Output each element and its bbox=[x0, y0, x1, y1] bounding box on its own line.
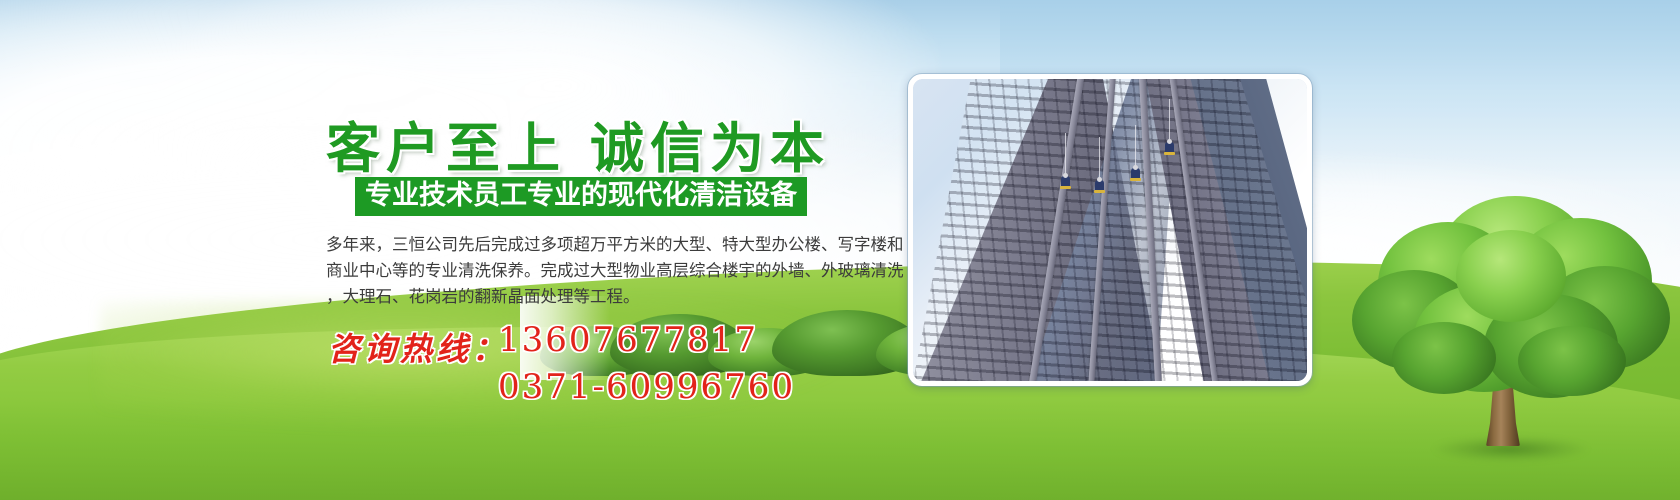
paragraph-line: 商业中心等的专业清洗保养。完成过大型物业高层综合楼宇的外墙、外玻璃清洗 bbox=[326, 258, 886, 284]
subtitle-bar: 专业技术员工专业的现代化清洁设备 bbox=[355, 177, 807, 216]
rope-access-worker bbox=[1061, 173, 1070, 188]
green-tree bbox=[1336, 196, 1676, 456]
photo-inner bbox=[913, 79, 1307, 381]
hotline-label: 咨询热线： bbox=[328, 324, 508, 370]
highrise-window-cleaning-photo[interactable] bbox=[908, 74, 1312, 386]
rope-access-worker bbox=[1095, 177, 1104, 192]
rope-access-worker bbox=[1165, 139, 1174, 154]
promo-banner: 客户至上诚信为本 专业技术员工专业的现代化清洁设备 多年来，三恒公司先后完成过多… bbox=[0, 0, 1680, 500]
phone-secondary[interactable]: 0371-60996760 bbox=[498, 367, 795, 407]
paragraph-line: 多年来，三恒公司先后完成过多项超万平方米的大型、特大型办公楼、写字楼和 bbox=[326, 232, 886, 258]
skyscraper bbox=[913, 79, 1307, 381]
paragraph-line: ，大理石、花岗岩的翻新晶面处理等工程。 bbox=[326, 284, 886, 310]
rope-access-worker bbox=[1131, 165, 1140, 180]
tree-canopy bbox=[1344, 196, 1668, 400]
subtitle-bar-label: 专业技术员工专业的现代化清洁设备 bbox=[365, 180, 797, 211]
page-title: 客户至上诚信为本 bbox=[326, 104, 830, 183]
headline-part-1: 客户至上 bbox=[326, 116, 566, 180]
headline-part-2: 诚信为本 bbox=[590, 116, 830, 180]
phone-primary[interactable]: 13607677817 bbox=[498, 320, 758, 360]
description-paragraph: 多年来，三恒公司先后完成过多项超万平方米的大型、特大型办公楼、写字楼和 商业中心… bbox=[326, 232, 886, 310]
